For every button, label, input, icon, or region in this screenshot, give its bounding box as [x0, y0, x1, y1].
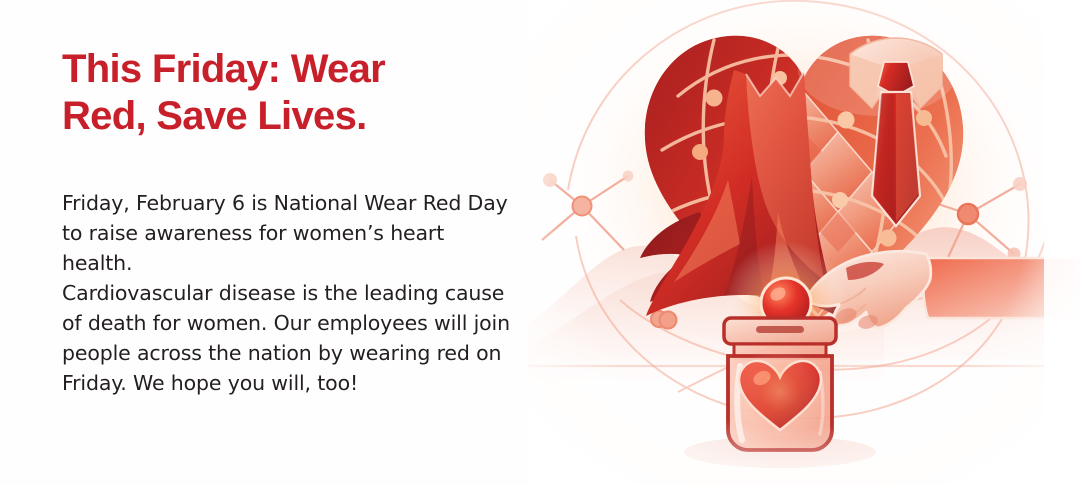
wear-red-day-banner: This Friday: Wear Red, Save Lives. Frida… — [0, 0, 1080, 485]
edge-fade — [528, 0, 1080, 485]
text-column: This Friday: Wear Red, Save Lives. Frida… — [0, 0, 540, 485]
wear-red-illustration — [528, 0, 1080, 485]
page-title: This Friday: Wear Red, Save Lives. — [62, 46, 516, 140]
body-copy: Friday, February 6 is National Wear Red … — [62, 140, 516, 398]
